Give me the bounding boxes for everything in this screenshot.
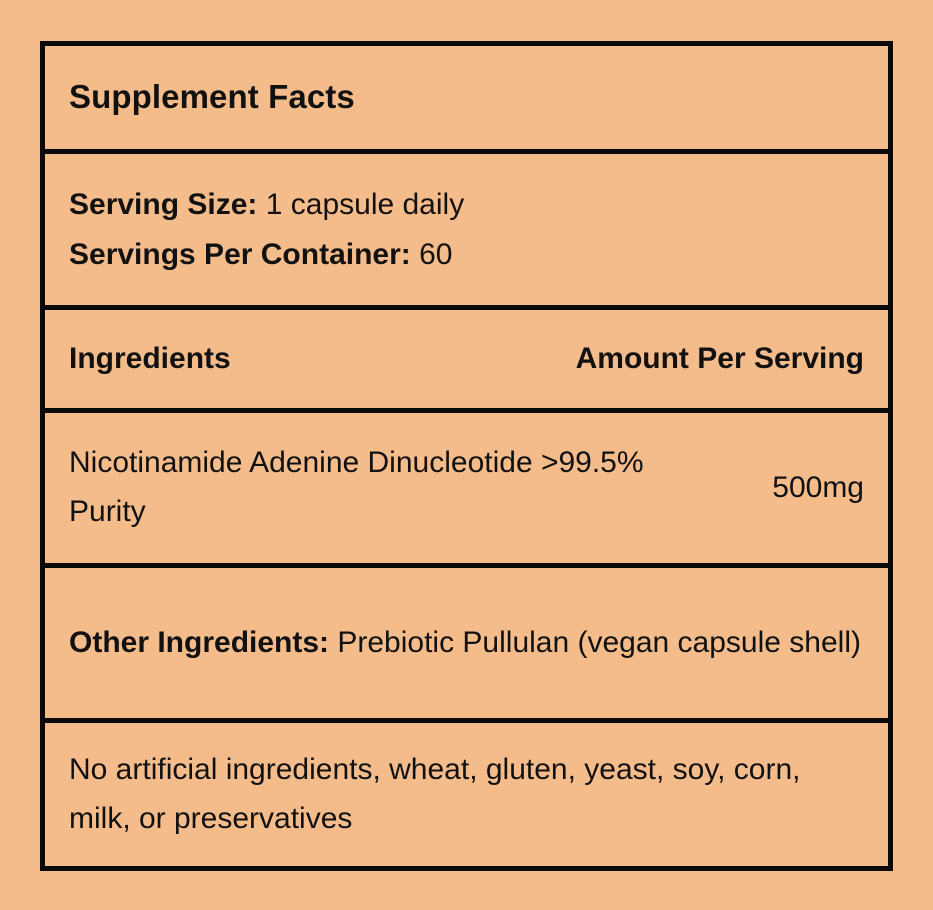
ingredient-amount: 500mg [772, 471, 864, 505]
other-ingredients-text: Other Ingredients: Prebiotic Pullulan (v… [69, 619, 864, 667]
other-ingredients-row: Other Ingredients: Prebiotic Pullulan (v… [45, 563, 888, 718]
serving-info-row: Serving Size: 1 capsule daily Servings P… [45, 149, 888, 305]
servings-per-container-line: Servings Per Container: 60 [69, 230, 864, 280]
footnote-row: No artificial ingredients, wheat, gluten… [45, 718, 888, 866]
table-column-header-row: Ingredients Amount Per Serving [45, 305, 888, 408]
supplement-facts-panel: Supplement Facts Serving Size: 1 capsule… [40, 41, 893, 871]
page-title: Supplement Facts [69, 79, 864, 115]
serving-size-line: Serving Size: 1 capsule daily [69, 180, 864, 230]
serving-size-value: 1 capsule daily [257, 188, 464, 221]
serving-size-label: Serving Size: [69, 188, 257, 221]
ingredient-name: Nicotinamide Adenine Dinucleotide >99.5%… [69, 439, 669, 536]
supplement-facts-title-row: Supplement Facts [45, 46, 888, 149]
servings-per-container-value: 60 [411, 238, 453, 271]
other-ingredients-label: Other Ingredients: [69, 626, 329, 659]
other-ingredients-value: Prebiotic Pullulan (vegan capsule shell) [329, 626, 861, 659]
column-header-ingredients: Ingredients [69, 342, 231, 376]
table-row: Nicotinamide Adenine Dinucleotide >99.5%… [45, 408, 888, 563]
column-header-amount-per-serving: Amount Per Serving [576, 342, 864, 376]
servings-per-container-label: Servings Per Container: [69, 238, 411, 271]
footnote-text: No artificial ingredients, wheat, gluten… [69, 746, 864, 843]
